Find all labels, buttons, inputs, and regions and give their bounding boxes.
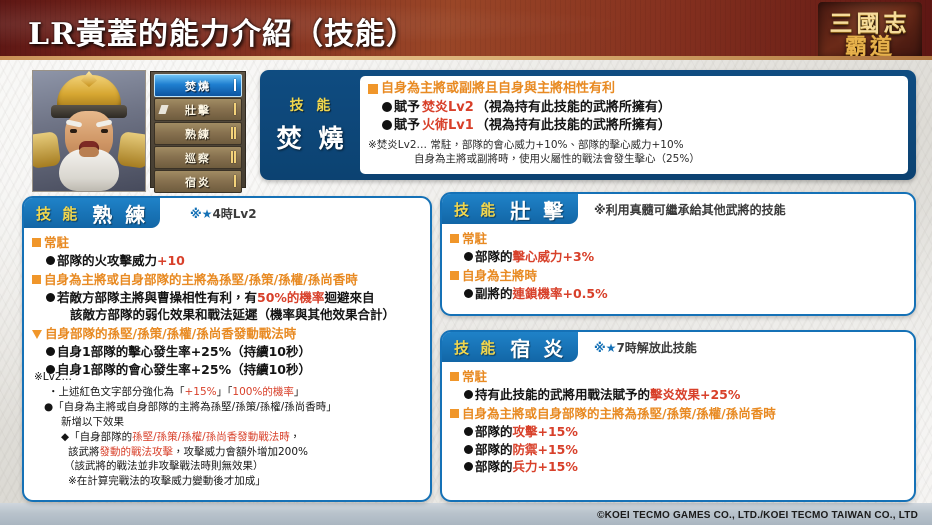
skill-effect: 部隊的攻擊+15% bbox=[464, 424, 908, 441]
skill-effect-text: 持有此技能的武將用戰法賦予的擊炎效果+25% bbox=[475, 387, 740, 404]
skill-effect-plain: 部隊的 bbox=[475, 459, 513, 474]
skill-effect: 部隊的擊心威力+3% bbox=[464, 249, 908, 266]
dot-bullet-icon bbox=[382, 120, 392, 130]
dot-bullet-icon bbox=[464, 462, 473, 471]
skill-condition: 常駐 bbox=[450, 369, 908, 386]
logo-sub-text: 霸道 bbox=[824, 29, 916, 60]
skill-list-item-label: 宿炎 bbox=[185, 174, 211, 190]
skill-effect-highlight: 攻擊+15% bbox=[513, 424, 578, 439]
skill-effect-text: 部隊的兵力+15% bbox=[475, 459, 578, 476]
skill-list-item-label: 焚燒 bbox=[185, 78, 211, 94]
square-bullet-icon bbox=[450, 372, 459, 381]
skill-panel-suyan: 技 能 宿 炎 ※★7時解放此技能 常駐持有此技能的武將用戰法賦予的擊炎效果+2… bbox=[440, 330, 916, 502]
skill-effect-text: 部隊的火攻擊威力+10 bbox=[57, 253, 185, 270]
lv2-line-7: ※在計算完戰法的攻擊威力變動後才加成」 bbox=[68, 474, 422, 489]
skill-effect-highlight: 擊炎效果+25% bbox=[650, 387, 740, 402]
skill-effect: 賦予焚炎Lv2（視為持有此技能的武將所擁有） bbox=[382, 99, 900, 116]
skill-badge-label: 技 能 bbox=[36, 203, 80, 224]
skill-effect-highlight: 擊心威力+3% bbox=[513, 249, 595, 264]
dot-bullet-icon bbox=[382, 102, 392, 112]
skill-effect-line: 持有此技能的武將用戰法賦予的擊炎效果+25% bbox=[475, 387, 740, 402]
square-bullet-icon bbox=[368, 84, 378, 94]
skill-effect-line: 該敵方部隊的弱化效果和戰法延遲（機率與其他效果合計） bbox=[70, 307, 395, 324]
skill-effect-plain: 持有此技能的武將用戰法賦予的 bbox=[475, 387, 650, 402]
skill-badge-name: 焚 燒 bbox=[277, 119, 348, 155]
skill-effect-text: 若敵方部隊主將與曹操相性有利，有50%的機率迴避來自該敵方部隊的弱化效果和戰法延… bbox=[57, 290, 395, 324]
skill-effect-highlight: 防禦+15% bbox=[513, 442, 578, 457]
skill-condition-text: 自身為主將或自身部隊的主將為孫堅/孫策/孫權/孫尚香時 bbox=[462, 406, 776, 423]
lv2-line-5-pre: 該武將 bbox=[68, 446, 100, 458]
lv2-line-1-post: 」 bbox=[294, 386, 305, 398]
portrait-shoulder-left-icon bbox=[32, 131, 61, 169]
skill-body-zhuangji: 常駐部隊的擊心威力+3%自身為主將時副將的連鎖機率+0.5% bbox=[450, 228, 908, 303]
lv2-title: ※Lv2… bbox=[34, 370, 422, 385]
skill-effect-plain: 部隊的 bbox=[475, 442, 513, 457]
skill-effect-highlight: 50%的機率 bbox=[257, 290, 324, 305]
skill-condition-text: 自身為主將或自身部隊的主將為孫堅/孫策/孫權/孫尚香時 bbox=[44, 272, 358, 289]
skill-effect-line: 部隊的攻擊+15% bbox=[475, 424, 578, 439]
skill-effect: 副將的連鎖機率+0.5% bbox=[464, 286, 908, 303]
skill-effect-line: 自身1部隊的擊心發生率+25%（持續10秒） bbox=[57, 344, 311, 359]
dot-bullet-icon bbox=[464, 252, 473, 261]
skill-effect-highlight: 連鎖機率+0.5% bbox=[513, 286, 608, 301]
header-banner: LR黃蓋的能力介紹（技能） 三國志 霸道 bbox=[0, 0, 932, 60]
level-bar-icon bbox=[234, 103, 236, 115]
level-bar-icon bbox=[234, 79, 236, 91]
dot-bullet-icon bbox=[46, 293, 55, 302]
skill-level-indicator bbox=[231, 127, 236, 139]
skill-unlock-note: ※★7時解放此技能 bbox=[594, 339, 697, 356]
skill-inherit-note: ※利用真髓可繼承給其他武將的技能 bbox=[594, 201, 786, 218]
star-icon: ※★ bbox=[190, 207, 212, 221]
skill-body-shulian: 常駐部隊的火攻擊威力+10自身為主將或自身部隊的主將為孫堅/孫策/孫權/孫尚香時… bbox=[32, 232, 424, 378]
lv2-line-3: 新增以下效果 bbox=[61, 415, 422, 430]
skill-badge-name: 宿 炎 bbox=[510, 333, 566, 362]
skill-body-fenshao: 自身為主將或副將且自身與主將相性有利 賦予焚炎Lv2（視為持有此技能的武將所擁有… bbox=[360, 76, 908, 174]
skill-effect: 若敵方部隊主將與曹操相性有利，有50%的機率迴避來自該敵方部隊的弱化效果和戰法延… bbox=[46, 290, 424, 324]
skill-condition-text: 常駐 bbox=[462, 231, 487, 248]
skill-badge-name: 熟 練 bbox=[92, 199, 148, 228]
skill-list-item[interactable]: 熟練 bbox=[154, 122, 242, 145]
skill-unlock-note: ※★4時Lv2 bbox=[190, 205, 257, 222]
level-bar-icon bbox=[234, 127, 236, 139]
skill-condition-text: 自身為主將或副將且自身與主將相性有利 bbox=[381, 81, 615, 98]
skill-condition: 自身部隊的孫堅/孫策/孫權/孫尚香發動戰法時 bbox=[32, 326, 424, 343]
lv2-line-4-hl: 孫堅/孫策/孫權/孫尚香發動戰法時 bbox=[132, 431, 290, 443]
square-bullet-icon bbox=[450, 271, 459, 280]
skill-condition-text: 自身為主將時 bbox=[462, 268, 537, 285]
dot-bullet-icon bbox=[464, 445, 473, 454]
dot-bullet-icon bbox=[46, 347, 55, 356]
skill-list-item[interactable]: 焚燒 bbox=[154, 74, 242, 97]
square-bullet-icon bbox=[450, 409, 459, 418]
level-bar-icon bbox=[231, 151, 233, 163]
skill-effect-suffix: （視為持有此技能的武將所擁有） bbox=[476, 117, 671, 134]
level-bar-icon bbox=[234, 151, 236, 163]
skill-effect: 部隊的防禦+15% bbox=[464, 442, 908, 459]
skill-lv2-notes: ※Lv2… ・上述紅色文字部分強化為「+15%」「100%的機率」 ●「自身為主… bbox=[34, 370, 422, 489]
level-bar-icon bbox=[231, 127, 233, 139]
skill-effect-highlight: 火術Lv1 bbox=[422, 117, 474, 134]
skill-list-item-label: 壯擊 bbox=[185, 102, 211, 118]
skill-badge-fenshao: 技 能 焚 燒 bbox=[266, 76, 358, 174]
lv2-line-2: ●「自身為主將或自身部隊的主將為孫堅/孫策/孫權/孫尚香時」 bbox=[44, 400, 422, 415]
dot-bullet-icon bbox=[464, 390, 473, 399]
dot-bullet-icon bbox=[464, 289, 473, 298]
skill-effect-plain: 副將的 bbox=[475, 286, 513, 301]
skill-effect-highlight: 焚炎Lv2 bbox=[422, 99, 474, 116]
skill-effect-line: 部隊的擊心威力+3% bbox=[475, 249, 594, 264]
skill-effect-suffix: （視為持有此技能的武將所擁有） bbox=[476, 99, 671, 116]
skill-effect-plain: 若敵方部隊主將與曹操相性有利，有 bbox=[57, 290, 257, 305]
triangle-bullet-icon bbox=[32, 330, 42, 339]
skill-badge-label: 技 能 bbox=[290, 95, 335, 115]
skill-effect-text: 部隊的防禦+15% bbox=[475, 442, 578, 459]
skill-footnote: ※焚炎Lv2… 常駐，部隊的會心威力+10%、部隊的擊心威力+10% 自身為主將… bbox=[368, 138, 900, 166]
lv2-line-5-post: ，攻擊威力會額外增加200% bbox=[173, 446, 308, 458]
square-bullet-icon bbox=[32, 275, 41, 284]
skill-list-item-label: 熟練 bbox=[185, 126, 211, 142]
skill-condition-text: 常駐 bbox=[462, 369, 487, 386]
skill-effect-line: 若敵方部隊主將與曹操相性有利，有50%的機率迴避來自 bbox=[57, 290, 374, 305]
dot-bullet-icon bbox=[464, 427, 473, 436]
skill-level-indicator bbox=[231, 151, 236, 163]
skill-panel-fenshao: 技 能 焚 燒 自身為主將或副將且自身與主將相性有利 賦予焚炎Lv2（視為持有此… bbox=[260, 70, 916, 180]
skill-badge-label: 技 能 bbox=[454, 337, 498, 358]
skill-footnote-line1: ※焚炎Lv2… 常駐，部隊的會心威力+10%、部隊的擊心威力+10% bbox=[368, 139, 684, 151]
skill-level-indicator bbox=[234, 103, 236, 115]
skill-effect-plain: 部隊的 bbox=[475, 424, 513, 439]
skill-effect: 自身1部隊的擊心發生率+25%（持續10秒） bbox=[46, 344, 424, 361]
skill-condition: 自身為主將或自身部隊的主將為孫堅/孫策/孫權/孫尚香時 bbox=[450, 406, 908, 423]
skill-effect-plain: 自身1部隊的擊心發生率+25%（持續10秒） bbox=[57, 344, 311, 359]
skill-effect-plain: 該敵方部隊的弱化效果和戰法延遲（機率與其他效果合計） bbox=[70, 307, 395, 322]
inherit-icon bbox=[158, 105, 168, 114]
square-bullet-icon bbox=[32, 238, 41, 247]
dot-bullet-icon bbox=[46, 256, 55, 265]
skill-list-item-label: 巡察 bbox=[185, 150, 211, 166]
skill-effect-text: 副將的連鎖機率+0.5% bbox=[475, 286, 608, 303]
lv2-line-4-pre: ◆「自身部隊的 bbox=[61, 431, 132, 443]
square-bullet-icon bbox=[450, 234, 459, 243]
page-title: LR黃蓋的能力介紹（技能） bbox=[28, 9, 417, 53]
portrait-eye-left-icon bbox=[70, 129, 77, 133]
skill-effect: 部隊的兵力+15% bbox=[464, 459, 908, 476]
skill-header-shulian: 技 能 熟 練 bbox=[24, 198, 160, 228]
star-icon: ※★ bbox=[594, 341, 616, 355]
lv2-line-5: 該武將發動的戰法攻擊，攻擊威力會額外增加200% bbox=[68, 445, 422, 460]
skill-effect-text: 自身1部隊的擊心發生率+25%（持續10秒） bbox=[57, 344, 311, 361]
skill-effect-text: 部隊的擊心威力+3% bbox=[475, 249, 594, 266]
skill-condition: 自身為主將或副將且自身與主將相性有利 bbox=[368, 81, 900, 98]
slide-root: LR黃蓋的能力介紹（技能） 三國志 霸道 焚燒壯擊熟練巡察宿炎 技 能 焚 燒 bbox=[0, 0, 932, 525]
skill-level-indicator bbox=[234, 175, 236, 187]
portrait-shoulder-right-icon bbox=[117, 131, 146, 169]
skill-effect: 賦予火術Lv1（視為持有此技能的武將所擁有） bbox=[382, 117, 900, 134]
skill-condition: 常駐 bbox=[450, 231, 908, 248]
skill-badge-name: 壯 擊 bbox=[510, 195, 566, 224]
skill-effect-text: 部隊的攻擊+15% bbox=[475, 424, 578, 441]
skill-panel-shulian: 技 能 熟 練 ※★4時Lv2 常駐部隊的火攻擊威力+10自身為主將或自身部隊的… bbox=[22, 196, 432, 502]
skill-list-item[interactable]: 壯擊 bbox=[154, 98, 242, 121]
skill-effect-plain: 部隊的火攻擊威力 bbox=[57, 253, 157, 268]
lv2-line-4: ◆「自身部隊的孫堅/孫策/孫權/孫尚香發動戰法時， bbox=[61, 430, 422, 445]
skill-effect: 部隊的火攻擊威力+10 bbox=[46, 253, 424, 270]
lv2-line-4-post: ， bbox=[290, 431, 301, 443]
skill-effect-highlight: 兵力+15% bbox=[513, 459, 578, 474]
skill-list[interactable]: 焚燒壯擊熟練巡察宿炎 bbox=[150, 71, 246, 188]
lv2-line-1-b: 100%的機率 bbox=[232, 386, 294, 398]
skill-effect-highlight: +10 bbox=[157, 253, 185, 268]
skill-header-zhuangji: 技 能 壯 擊 bbox=[442, 194, 578, 224]
lv2-line-6: （該武將的戰法並非攻擊戰法時則無效果） bbox=[64, 459, 422, 474]
skill-badge-label: 技 能 bbox=[454, 199, 498, 220]
skill-condition: 自身為主將時 bbox=[450, 268, 908, 285]
skill-effect-plain: 部隊的 bbox=[475, 249, 513, 264]
skill-body-suyan: 常駐持有此技能的武將用戰法賦予的擊炎效果+25%自身為主將或自身部隊的主將為孫堅… bbox=[450, 366, 908, 476]
lv2-line-5-hl: 發動的戰法攻擊 bbox=[100, 446, 174, 458]
lv2-line-1-pre: ・上述紅色文字部分強化為「 bbox=[48, 386, 185, 398]
portrait-chin-icon bbox=[79, 147, 99, 157]
skill-effect-line: 部隊的兵力+15% bbox=[475, 459, 578, 474]
lv2-line-1: ・上述紅色文字部分強化為「+15%」「100%的機率」 bbox=[48, 385, 422, 400]
lv2-line-1-a: +15% bbox=[185, 386, 217, 398]
portrait-eye-right-icon bbox=[101, 129, 108, 133]
skill-effect-plain: 迴避來自 bbox=[324, 290, 374, 305]
skill-effect-prefix: 賦予 bbox=[394, 117, 420, 134]
skill-condition-text: 自身部隊的孫堅/孫策/孫權/孫尚香發動戰法時 bbox=[45, 326, 296, 343]
skill-list-item[interactable]: 巡察 bbox=[154, 146, 242, 169]
skill-header-suyan: 技 能 宿 炎 bbox=[442, 332, 578, 362]
skill-unlock-note-text: 7時解放此技能 bbox=[616, 341, 696, 355]
skill-list-item[interactable]: 宿炎 bbox=[154, 170, 242, 193]
character-portrait bbox=[32, 70, 146, 192]
skill-effect-line: 部隊的防禦+15% bbox=[475, 442, 578, 457]
game-logo: 三國志 霸道 bbox=[818, 2, 922, 60]
skill-condition: 常駐 bbox=[32, 235, 424, 252]
skill-effect-line: 部隊的火攻擊威力+10 bbox=[57, 253, 185, 268]
skill-effect-prefix: 賦予 bbox=[394, 99, 420, 116]
skill-condition-text: 常駐 bbox=[44, 235, 69, 252]
skill-unlock-note-text: 4時Lv2 bbox=[212, 207, 256, 221]
copyright-text: ©KOEI TECMO GAMES CO., LTD./KOEI TECMO T… bbox=[597, 510, 918, 521]
lv2-line-1-mid: 」「 bbox=[217, 386, 233, 398]
skill-effect-line: 副將的連鎖機率+0.5% bbox=[475, 286, 608, 301]
skill-effect: 持有此技能的武將用戰法賦予的擊炎效果+25% bbox=[464, 387, 908, 404]
skill-footnote-line2: 自身為主將或副將時，使用火屬性的戰法會發生擊心（25%） bbox=[414, 152, 900, 166]
level-bar-icon bbox=[234, 175, 236, 187]
skill-panel-zhuangji: 技 能 壯 擊 ※利用真髓可繼承給其他武將的技能 常駐部隊的擊心威力+3%自身為… bbox=[440, 192, 916, 316]
skill-condition: 自身為主將或自身部隊的主將為孫堅/孫策/孫權/孫尚香時 bbox=[32, 272, 424, 289]
skill-level-indicator bbox=[234, 79, 236, 91]
